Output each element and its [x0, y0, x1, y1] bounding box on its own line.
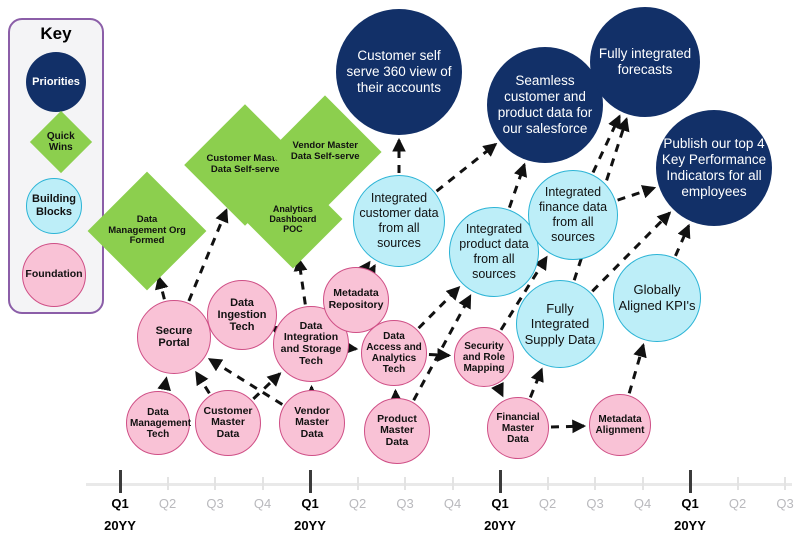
timeline-tick-6	[404, 477, 406, 490]
timeline-tick-8	[499, 470, 502, 493]
connector-f11-to-f12	[551, 426, 584, 427]
timeline-tick-11	[642, 477, 644, 490]
node-label: Vendor Master Data Self-serve	[285, 141, 365, 162]
timeline-tick-12	[689, 470, 692, 493]
node-label: Metadata Repository	[324, 288, 388, 311]
node-label: Fully Integrated Supply Data	[517, 301, 603, 348]
priority-node-p1[interactable]: Customer self serve 360 view of their ac…	[336, 9, 462, 135]
building-block-node-b2[interactable]: Integrated product data from all sources	[449, 207, 539, 297]
connector-f11-to-b4	[530, 369, 541, 397]
timeline-tick-0	[119, 470, 122, 493]
connector-b2-to-p2	[509, 165, 524, 208]
node-label: Vendor Master Data	[280, 406, 344, 441]
connector-f3-to-q3	[299, 259, 306, 304]
timeline-quarter-label-14: Q3	[755, 496, 800, 511]
key-item-priorities-label: Priorities	[32, 76, 80, 89]
key-title: Key	[8, 24, 104, 44]
foundation-node-f9[interactable]: Vendor Master Data	[279, 390, 345, 456]
timeline-tick-3	[262, 477, 264, 490]
building-block-node-b5[interactable]: Globally Aligned KPI's	[613, 254, 701, 342]
node-label: Data Management Org Formed	[105, 215, 189, 247]
connector-f8-to-f3	[253, 374, 280, 399]
timeline-year-label-4: 20YY	[275, 518, 345, 533]
building-block-node-b4[interactable]: Fully Integrated Supply Data	[516, 280, 604, 368]
foundation-node-f10[interactable]: Product Master Data	[364, 398, 430, 464]
timeline-tick-9	[547, 477, 549, 490]
foundation-node-f2[interactable]: Data Ingestion Tech	[207, 280, 277, 350]
building-block-node-b1[interactable]: Integrated customer data from all source…	[353, 175, 445, 267]
node-label: Data Management Tech	[127, 407, 189, 440]
timeline-tick-13	[737, 477, 739, 490]
foundation-node-f5[interactable]: Data Access and Analytics Tech	[361, 320, 427, 386]
node-label: Financial Master Data	[488, 412, 548, 445]
building-block-node-b3[interactable]: Integrated finance data from all sources	[528, 170, 618, 260]
connector-f6-to-f11	[498, 386, 503, 396]
connector-f1-to-q1	[159, 277, 165, 299]
foundation-node-f6[interactable]: Security and Role Mapping	[454, 327, 514, 387]
priority-node-p3[interactable]: Fully integrated forecasts	[590, 7, 700, 117]
node-label: Integrated product data from all sources	[450, 222, 538, 282]
connector-f12-to-b5	[629, 345, 643, 393]
foundation-node-f1[interactable]: Secure Portal	[137, 300, 211, 374]
connector-b5-to-p4	[675, 226, 688, 256]
connector-f7-to-f1	[164, 378, 166, 389]
connector-f8-to-f1	[196, 373, 209, 394]
timeline-year-label-12: 20YY	[655, 518, 725, 533]
roadmap-diagram: Key Priorities QuickWins BuildingBlocks …	[0, 0, 800, 545]
foundation-node-f12[interactable]: Metadata Alignment	[589, 394, 651, 456]
node-label: Seamless customer and product data for o…	[487, 73, 603, 137]
node-label: Data Ingestion Tech	[208, 297, 276, 333]
connector-f4-to-b1	[373, 266, 375, 269]
node-label: Data Integration and Storage Tech	[274, 321, 348, 367]
priority-node-p4[interactable]: Publish our top 4 Key Performance Indica…	[656, 110, 772, 226]
key-item-foundation-label: Foundation	[25, 269, 82, 281]
node-label: Globally Aligned KPI's	[614, 282, 700, 313]
timeline-tick-14	[784, 477, 786, 490]
timeline-tick-10	[594, 477, 596, 490]
node-label: Fully integrated forecasts	[590, 46, 700, 78]
connector-f3-to-f5	[351, 348, 356, 349]
node-label: Metadata Alignment	[590, 414, 650, 436]
timeline-tick-5	[357, 477, 359, 490]
node-label: Analytics Dashboard POC	[258, 204, 328, 234]
timeline-tick-7	[452, 477, 454, 490]
timeline-year-label-8: 20YY	[465, 518, 535, 533]
foundation-node-f8[interactable]: Customer Master Data	[195, 390, 261, 456]
node-label: Customer Master Data	[196, 406, 260, 441]
connector-b3-to-p4	[618, 188, 655, 200]
foundation-node-f11[interactable]: Financial Master Data	[487, 397, 549, 459]
node-label: Publish our top 4 Key Performance Indica…	[656, 136, 772, 200]
node-label: Secure Portal	[138, 325, 210, 349]
timeline-axis	[86, 483, 792, 486]
node-label: Integrated finance data from all sources	[529, 185, 617, 245]
timeline-year-label-0: 20YY	[85, 518, 155, 533]
timeline-tick-4	[309, 470, 312, 493]
node-label: Product Master Data	[365, 414, 429, 449]
quick-win-node-q1[interactable]: Data Management Org Formed	[88, 172, 207, 291]
node-label: Customer self serve 360 view of their ac…	[336, 48, 462, 96]
connector-f5-to-b2	[419, 288, 459, 329]
priority-node-p2[interactable]: Seamless customer and product data for o…	[487, 47, 603, 163]
connector-f5-to-f6	[429, 355, 449, 356]
foundation-node-f7[interactable]: Data Management Tech	[126, 391, 190, 455]
key-item-building-blocks-label: BuildingBlocks	[32, 193, 76, 219]
timeline-tick-1	[167, 477, 169, 490]
key-item-foundation: Foundation	[22, 243, 86, 307]
key-item-quick-wins-label: QuickWins	[47, 131, 75, 153]
key-item-building-blocks: BuildingBlocks	[26, 178, 82, 234]
node-label: Integrated customer data from all source…	[354, 191, 444, 251]
node-label: Security and Role Mapping	[455, 341, 513, 374]
key-item-priorities: Priorities	[26, 52, 86, 112]
connector-b1-to-p2	[437, 144, 496, 191]
timeline-tick-2	[214, 477, 216, 490]
node-label: Data Access and Analytics Tech	[362, 331, 426, 375]
